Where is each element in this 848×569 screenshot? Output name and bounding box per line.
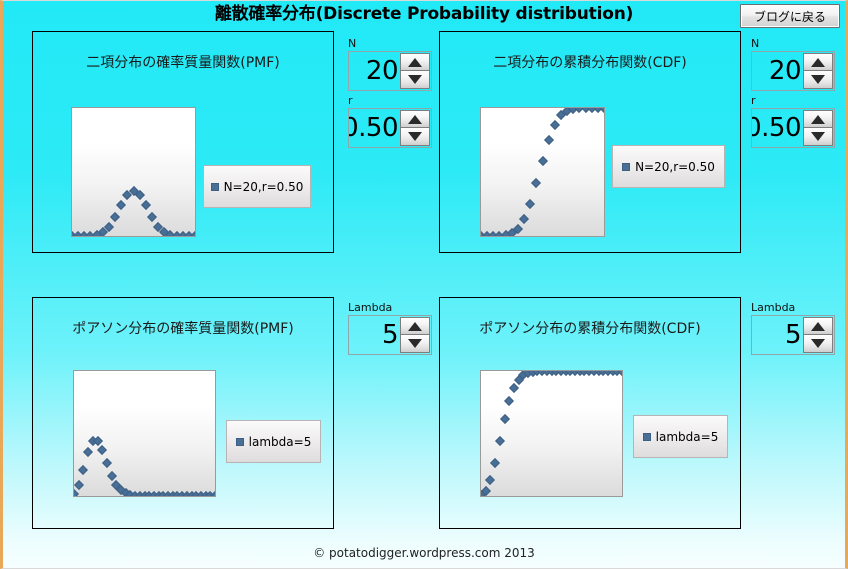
chart-title-poisson-cdf: ポアソン分布の累積分布関数(CDF) — [440, 318, 740, 338]
spinner-buttons — [400, 110, 430, 146]
spinner-value[interactable]: 20 — [349, 52, 400, 90]
spinner-decrement-button[interactable] — [803, 71, 833, 89]
legend-binomial-cdf: N=20,r=0.50 — [612, 145, 725, 188]
spinner-increment-button[interactable] — [803, 53, 833, 71]
data-point-marker — [83, 447, 93, 457]
triangle-up-icon — [811, 115, 825, 124]
control-poisson-lambda: Lambda 5 — [348, 301, 432, 355]
footer-copyright: © potatodigger.wordpress.com 2013 — [3, 546, 845, 560]
spinner-decrement-button[interactable] — [400, 128, 430, 146]
legend-poisson-pmf: lambda=5 — [226, 420, 321, 463]
spinner-buttons — [803, 110, 833, 146]
plot-area: 00.10.20.30.40102030 — [73, 370, 216, 497]
control-poisson-cdf-lambda: Lambda 5 — [751, 301, 835, 355]
data-point-marker — [485, 475, 495, 485]
data-point-marker — [73, 489, 79, 497]
spinner-decrement-button[interactable] — [400, 335, 430, 353]
spinner-decrement-button[interactable] — [803, 128, 833, 146]
spinner-buttons — [803, 317, 833, 353]
spinner-buttons — [400, 53, 430, 89]
data-point-marker — [110, 212, 120, 222]
data-point-marker — [147, 212, 157, 222]
panel-poisson-pmf: ポアソン分布の確率質量関数(PMF) 00.10.20.30.40102030 … — [32, 297, 334, 529]
spinner-increment-button[interactable] — [400, 317, 430, 335]
panel-poisson-cdf: ポアソン分布の累積分布関数(CDF) 00.20.40.60.810102030… — [439, 297, 741, 529]
spinner-value[interactable]: 5 — [349, 316, 400, 354]
legend-label: N=20,r=0.50 — [224, 180, 304, 194]
control-label: r — [348, 94, 432, 107]
spinner-value[interactable]: 0.50 — [752, 109, 803, 147]
spinner-decrement-button[interactable] — [400, 71, 430, 89]
page-title: 離散確率分布(Discrete Probability distribution… — [3, 2, 845, 26]
data-point-marker — [519, 214, 529, 224]
plot-area: 00.10.20.30.40.501020 — [71, 107, 196, 237]
legend-poisson-cdf: lambda=5 — [633, 415, 728, 458]
spinner-decrement-button[interactable] — [803, 335, 833, 353]
spinner[interactable]: 20 — [751, 51, 835, 91]
spinner[interactable]: 20 — [348, 51, 432, 91]
spinner-value[interactable]: 20 — [752, 52, 803, 90]
triangle-down-icon — [811, 339, 825, 348]
spinner[interactable]: 0.50 — [751, 108, 835, 148]
triangle-up-icon — [408, 58, 422, 67]
chart-poisson-pmf: 00.10.20.30.40102030 — [73, 370, 216, 497]
triangle-up-icon — [811, 58, 825, 67]
control-label: Lambda — [751, 301, 835, 314]
control-binomial-cdf-r: r 0.50 — [751, 94, 835, 148]
legend-marker-icon — [643, 433, 651, 441]
control-label: r — [751, 94, 835, 107]
app-window: 離散確率分布(Discrete Probability distribution… — [0, 0, 848, 569]
control-label: N — [751, 37, 835, 50]
legend-marker-icon — [236, 438, 244, 446]
data-point-marker — [78, 465, 88, 475]
data-point-marker — [141, 200, 151, 210]
header-bar: 離散確率分布(Discrete Probability distribution… — [3, 1, 845, 31]
data-point-marker — [490, 458, 500, 468]
legend-label: lambda=5 — [656, 430, 719, 444]
spinner[interactable]: 5 — [348, 315, 432, 355]
plot-area: 00.20.40.60.8101020 — [480, 107, 605, 237]
control-label: N — [348, 37, 432, 50]
data-point-marker — [74, 481, 84, 491]
data-point-marker — [531, 178, 541, 188]
spinner-buttons — [400, 317, 430, 353]
data-point-marker — [544, 135, 554, 145]
data-point-marker — [190, 231, 196, 237]
panel-binomial-cdf: 二項分布の累積分布関数(CDF) 00.20.40.60.8101020 N=2… — [439, 31, 741, 253]
triangle-up-icon — [408, 115, 422, 124]
back-to-blog-button[interactable]: ブログに戻る — [740, 4, 840, 28]
spinner-value[interactable]: 5 — [752, 316, 803, 354]
data-point-marker — [500, 414, 510, 424]
legend-label: N=20,r=0.50 — [635, 160, 715, 174]
chart-title-poisson-pmf: ポアソン分布の確率質量関数(PMF) — [33, 318, 333, 338]
spinner-increment-button[interactable] — [400, 110, 430, 128]
triangle-down-icon — [408, 339, 422, 348]
spinner-buttons — [803, 53, 833, 89]
spinner-increment-button[interactable] — [803, 110, 833, 128]
triangle-up-icon — [811, 322, 825, 331]
data-point-marker — [102, 458, 112, 468]
legend-label: lambda=5 — [249, 435, 312, 449]
spinner-increment-button[interactable] — [400, 53, 430, 71]
control-binomial-n: N 20 — [348, 37, 432, 91]
control-binomial-r: r 0.50 — [348, 94, 432, 148]
data-point-marker — [525, 199, 535, 209]
triangle-down-icon — [811, 75, 825, 84]
control-binomial-cdf-n: N 20 — [751, 37, 835, 91]
spinner[interactable]: 5 — [751, 315, 835, 355]
legend-binomial-pmf: N=20,r=0.50 — [203, 165, 311, 208]
data-point-marker — [550, 120, 560, 130]
chart-poisson-cdf: 00.20.40.60.810102030 — [480, 370, 623, 497]
legend-marker-icon — [622, 163, 630, 171]
chart-binomial-pmf: 00.10.20.30.40.501020 — [71, 107, 196, 237]
data-point-marker — [116, 200, 126, 210]
spinner-increment-button[interactable] — [803, 317, 833, 335]
panel-binomial-pmf: 二項分布の確率質量関数(PMF) 00.10.20.30.40.501020 N… — [32, 31, 334, 253]
triangle-down-icon — [811, 132, 825, 141]
control-label: Lambda — [348, 301, 432, 314]
spinner-value[interactable]: 0.50 — [349, 109, 400, 147]
data-point-marker — [538, 156, 548, 166]
triangle-down-icon — [408, 75, 422, 84]
chart-title-binomial-pmf: 二項分布の確率質量関数(PMF) — [33, 52, 333, 72]
plot-area: 00.20.40.60.810102030 — [480, 370, 623, 497]
data-point-marker — [495, 436, 505, 446]
chart-binomial-cdf: 00.20.40.60.8101020 — [480, 107, 605, 237]
data-point-marker — [97, 445, 107, 455]
spinner[interactable]: 0.50 — [348, 108, 432, 148]
data-point-marker — [504, 396, 514, 406]
chart-title-binomial-cdf: 二項分布の累積分布関数(CDF) — [440, 52, 740, 72]
triangle-down-icon — [408, 132, 422, 141]
triangle-up-icon — [408, 322, 422, 331]
legend-marker-icon — [211, 183, 219, 191]
